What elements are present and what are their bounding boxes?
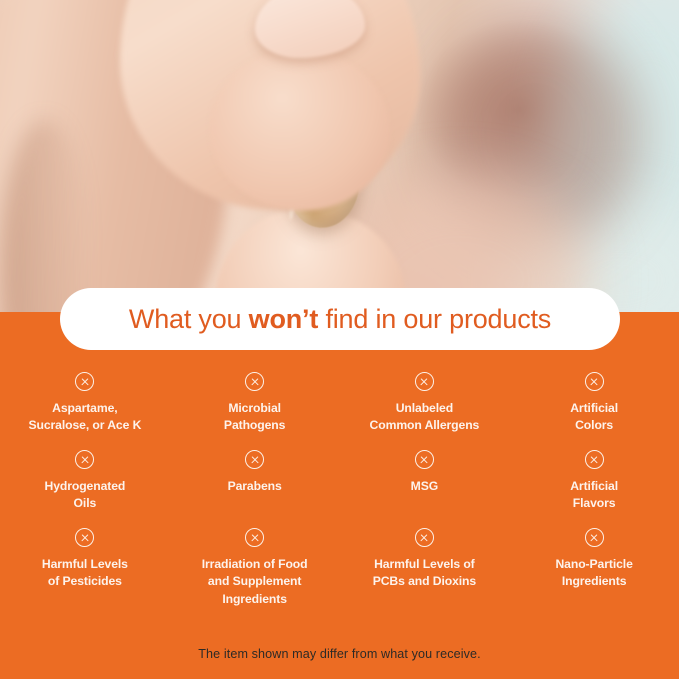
claim-label: Artificial Colors (570, 400, 618, 435)
claim-item: Harmful Levels of Pesticides (0, 528, 170, 618)
claim-label: Microbial Pathogens (224, 400, 285, 435)
circle-x-icon (415, 372, 434, 391)
claim-item: Artificial Colors (509, 372, 679, 450)
claim-item: Nano-Particle Ingredients (509, 528, 679, 618)
product-photo (0, 0, 679, 312)
claim-label: Aspartame, Sucralose, or Ace K (28, 400, 141, 435)
claim-item: Hydrogenated Oils (0, 450, 170, 528)
claim-item: Artificial Flavors (509, 450, 679, 528)
claim-item: Unlabeled Common Allergens (340, 372, 510, 450)
claim-item: Harmful Levels of PCBs and Dioxins (340, 528, 510, 618)
claim-item: MSG (340, 450, 510, 528)
circle-x-icon (245, 372, 264, 391)
circle-x-icon (415, 450, 434, 469)
claim-label: Harmful Levels of PCBs and Dioxins (373, 556, 476, 591)
claim-item: Irradiation of Food and Supplement Ingre… (170, 528, 340, 618)
thumb-tip (210, 50, 390, 210)
circle-x-icon (75, 450, 94, 469)
claim-item: Microbial Pathogens (170, 372, 340, 450)
claim-label: MSG (411, 478, 438, 495)
claims-row: Aspartame, Sucralose, or Ace K Microbial… (0, 372, 679, 450)
claim-label: Irradiation of Food and Supplement Ingre… (202, 556, 308, 608)
page-title: What you won’t find in our products (129, 304, 551, 335)
circle-x-icon (585, 372, 604, 391)
circle-x-icon (245, 528, 264, 547)
claims-panel: Aspartame, Sucralose, or Ace K Microbial… (0, 312, 679, 679)
claim-item: Parabens (170, 450, 340, 528)
disclaimer-note: The item shown may differ from what you … (0, 647, 679, 661)
claim-label: Nano-Particle Ingredients (555, 556, 632, 591)
circle-x-icon (75, 528, 94, 547)
circle-x-icon (415, 528, 434, 547)
headline-pill: What you won’t find in our products (60, 288, 620, 350)
claim-label: Parabens (228, 478, 282, 495)
claim-item: Aspartame, Sucralose, or Ace K (0, 372, 170, 450)
product-claims-infographic: Aspartame, Sucralose, or Ace K Microbial… (0, 0, 679, 679)
title-prefix: What you (129, 304, 249, 334)
claim-label: Unlabeled Common Allergens (370, 400, 480, 435)
circle-x-icon (75, 372, 94, 391)
claims-row: Hydrogenated Oils Parabens MSG Artificia… (0, 450, 679, 528)
title-emphasis: won’t (249, 304, 318, 334)
claim-label: Harmful Levels of Pesticides (42, 556, 128, 591)
claims-grid: Aspartame, Sucralose, or Ace K Microbial… (0, 372, 679, 618)
circle-x-icon (245, 450, 264, 469)
claims-row: Harmful Levels of Pesticides Irradiation… (0, 528, 679, 618)
claim-label: Artificial Flavors (570, 478, 618, 513)
claim-label: Hydrogenated Oils (45, 478, 126, 513)
circle-x-icon (585, 528, 604, 547)
title-suffix: find in our products (318, 304, 551, 334)
circle-x-icon (585, 450, 604, 469)
